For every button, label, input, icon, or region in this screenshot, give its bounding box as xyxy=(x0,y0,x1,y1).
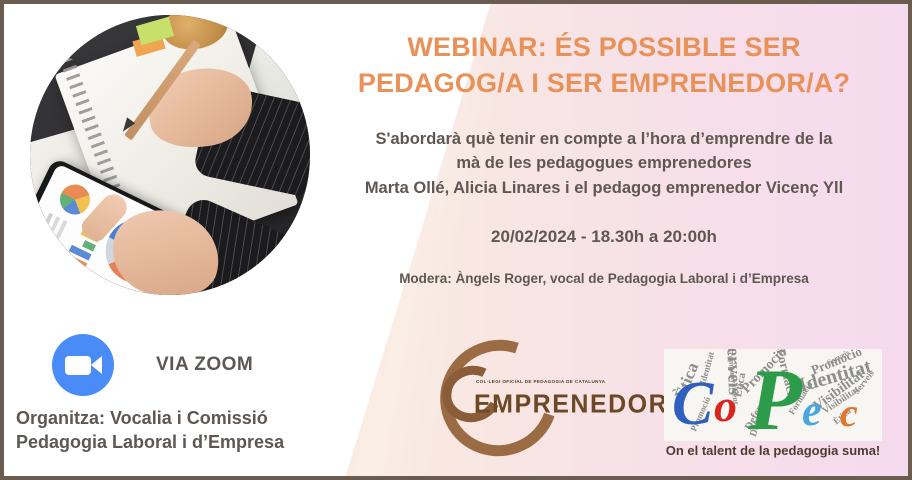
description-line-2: mà de les pedagogues emprenedores xyxy=(304,151,904,175)
event-moderator: Modera: Àngels Roger, vocal de Pedagogia… xyxy=(304,271,904,286)
copec-letter-o: o xyxy=(714,383,737,429)
organizer-line-1: Organitza: Vocalia i Comissió xyxy=(16,407,346,431)
copec-letter-c2: c xyxy=(840,393,858,433)
page-title: WEBINAR: ÉS POSSIBLE SER PEDAGOG/A I SER… xyxy=(304,30,904,102)
copec-tagline: On el talent de la pedagogia suma! xyxy=(664,443,882,458)
speakers-line: Marta Ollé, Alicia Linares i el pedagog … xyxy=(304,176,904,200)
organizer-block: Organitza: Vocalia i Comissió Pedagogia … xyxy=(16,407,346,455)
emprenedoria-tagline: COL·LEGI OFICIAL DE PEDAGOGIA DE CATALUN… xyxy=(476,379,605,384)
organizer-line-2: Pedagogia Laboral i d’Empresa xyxy=(16,431,346,455)
copec-logo: Ètica Serveis Identitat Promoció Formaci… xyxy=(664,349,882,465)
zoom-camera-body xyxy=(65,356,91,375)
copec-letter-p: P xyxy=(748,357,802,445)
photo-content xyxy=(30,15,310,295)
event-datetime: 20/02/2024 - 18.30h a 20:00h xyxy=(304,227,904,247)
copec-lettermark: C o P e c xyxy=(664,349,882,441)
zoom-icon xyxy=(52,334,114,396)
hero-photo xyxy=(30,15,310,295)
emprenedoria-wordmark: EMPRENEDORIA xyxy=(474,389,696,419)
webinar-poster: WEBINAR: ÉS POSSIBLE SER PEDAGOG/A I SER… xyxy=(0,0,912,480)
platform-block: VIA ZOOM xyxy=(52,334,253,396)
copec-letter-e: e xyxy=(802,389,822,433)
title-line-1: WEBINAR: ÉS POSSIBLE SER xyxy=(304,30,904,66)
emprenedoria-logo: COL·LEGI OFICIAL DE PEDAGOGIA DE CATALUN… xyxy=(428,338,628,462)
description-line-1: S'abordarà què tenir en compte a l’hora … xyxy=(304,127,904,151)
title-line-2: PEDAGOG/A I SER EMPRENEDOR/A? xyxy=(304,66,904,102)
copec-letter-c: C xyxy=(672,373,713,435)
screen-text-lines xyxy=(34,213,53,247)
platform-label: VIA ZOOM xyxy=(156,354,253,376)
zoom-camera-lens xyxy=(91,356,102,374)
description-block: S'abordarà què tenir en compte a l’hora … xyxy=(304,127,904,200)
